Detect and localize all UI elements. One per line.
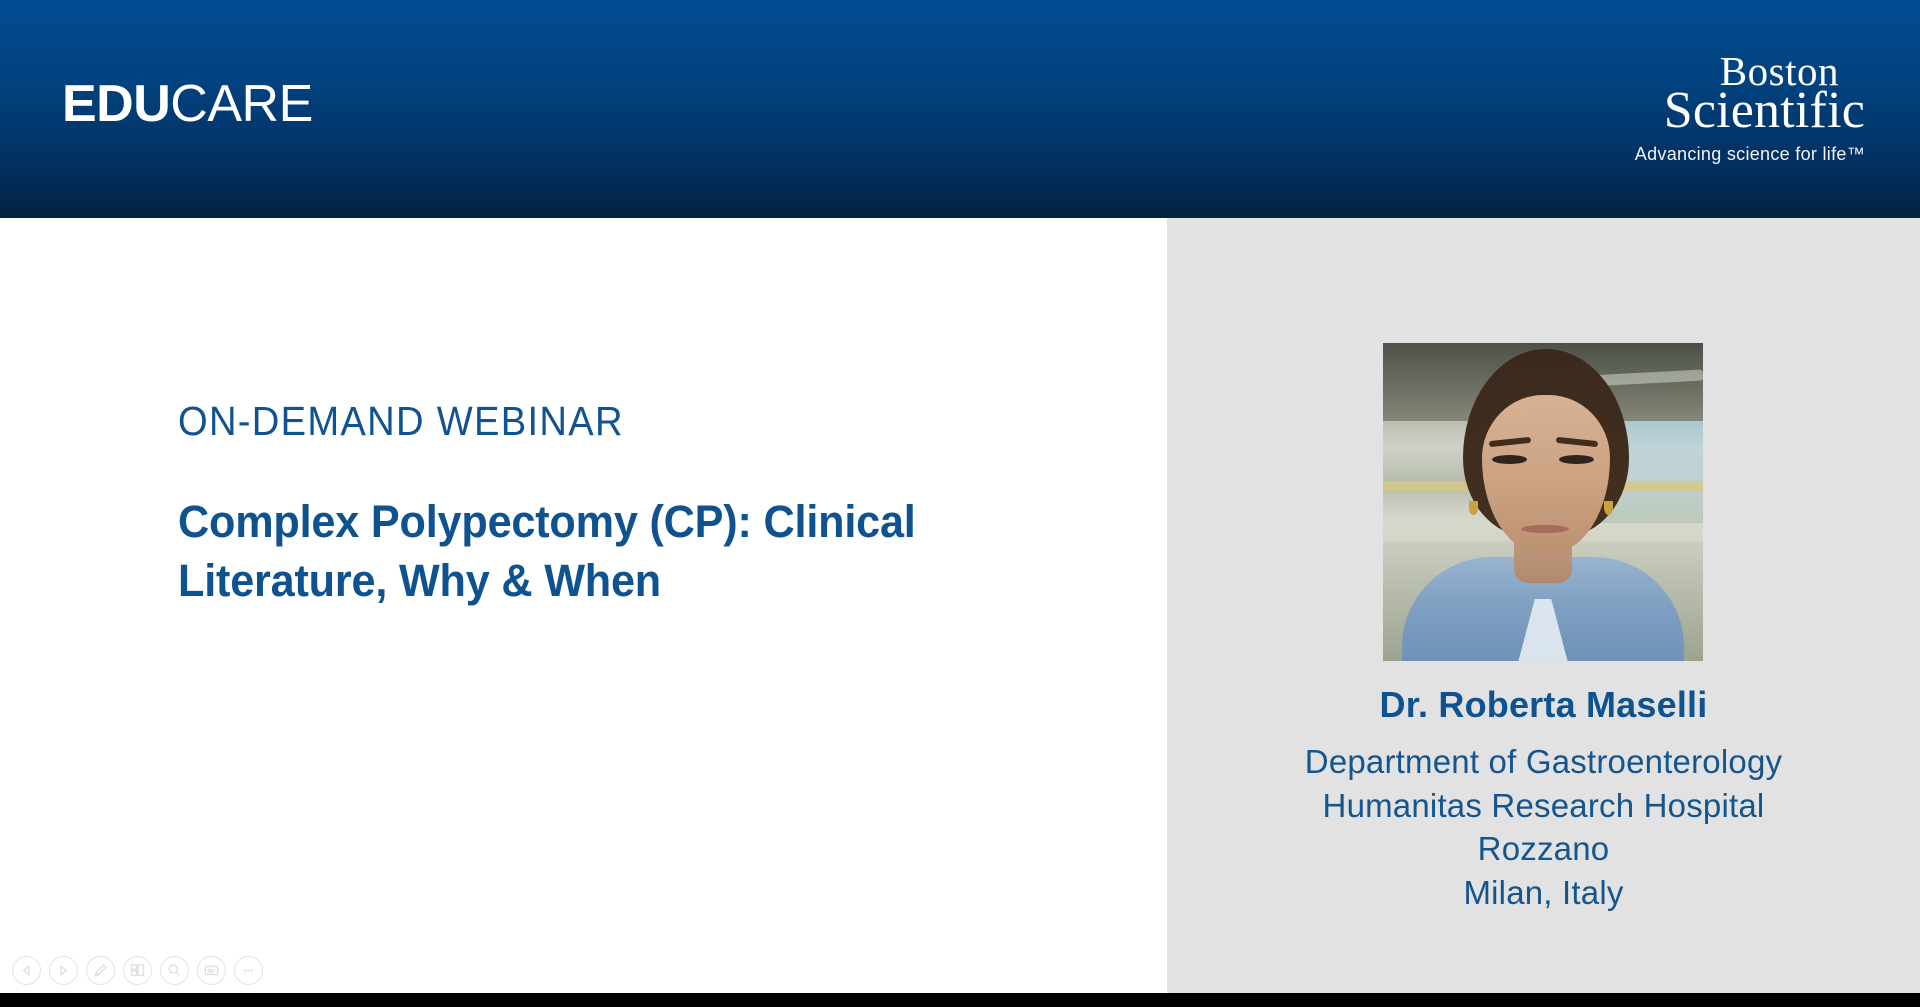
header-bar: EDUCARE Boston Scientific Advancing scie… — [0, 0, 1920, 218]
subject-eye-left — [1492, 455, 1527, 464]
affiliation-line-1: Department of Gastroenterology — [1167, 740, 1920, 784]
slides-icon — [129, 962, 146, 979]
play-icon — [56, 963, 71, 978]
photo-subject — [1383, 343, 1703, 661]
captions-icon — [203, 962, 220, 979]
educare-logo: EDUCARE — [62, 78, 313, 130]
educare-logo-regular: CARE — [170, 75, 312, 133]
pencil-icon — [92, 962, 109, 979]
affiliation-line-2: Humanitas Research Hospital — [1167, 784, 1920, 828]
speaker-name: Dr. Roberta Maselli — [1167, 684, 1920, 726]
subject-mouth — [1521, 525, 1569, 533]
slide-content-area: ON-DEMAND WEBINAR Complex Polypectomy (C… — [0, 218, 1167, 993]
captions-button[interactable] — [197, 956, 226, 985]
player-control-bar — [12, 956, 263, 985]
bottom-bar — [0, 993, 1920, 1007]
previous-icon — [19, 963, 34, 978]
more-options-icon — [240, 962, 257, 979]
slides-button[interactable] — [123, 956, 152, 985]
subject-earring-left — [1469, 501, 1478, 515]
play-button[interactable] — [49, 956, 78, 985]
search-icon — [166, 962, 183, 979]
search-button[interactable] — [160, 956, 189, 985]
subject-eye-right — [1559, 455, 1594, 464]
brand-logo-line2: Scientific — [1485, 87, 1865, 135]
speaker-panel: Dr. Roberta Maselli Department of Gastro… — [1167, 218, 1920, 993]
subject-earring-right — [1604, 501, 1613, 515]
affiliation-line-3: Rozzano — [1167, 827, 1920, 871]
educare-logo-bold: EDU — [62, 75, 170, 133]
boston-scientific-logo: Boston Scientific Advancing science for … — [1485, 52, 1865, 165]
eyebrow-label: ON-DEMAND WEBINAR — [178, 398, 624, 445]
page-title: Complex Polypectomy (CP): Clinical Liter… — [178, 493, 1061, 610]
previous-button[interactable] — [12, 956, 41, 985]
brand-tagline: Advancing science for life™ — [1485, 144, 1865, 165]
speaker-photo — [1383, 343, 1703, 661]
slide-viewer: EDUCARE Boston Scientific Advancing scie… — [0, 0, 1920, 1007]
affiliation-line-4: Milan, Italy — [1167, 871, 1920, 915]
more-options-button[interactable] — [234, 956, 263, 985]
speaker-affiliation: Department of Gastroenterology Humanitas… — [1167, 740, 1920, 914]
annotate-button[interactable] — [86, 956, 115, 985]
